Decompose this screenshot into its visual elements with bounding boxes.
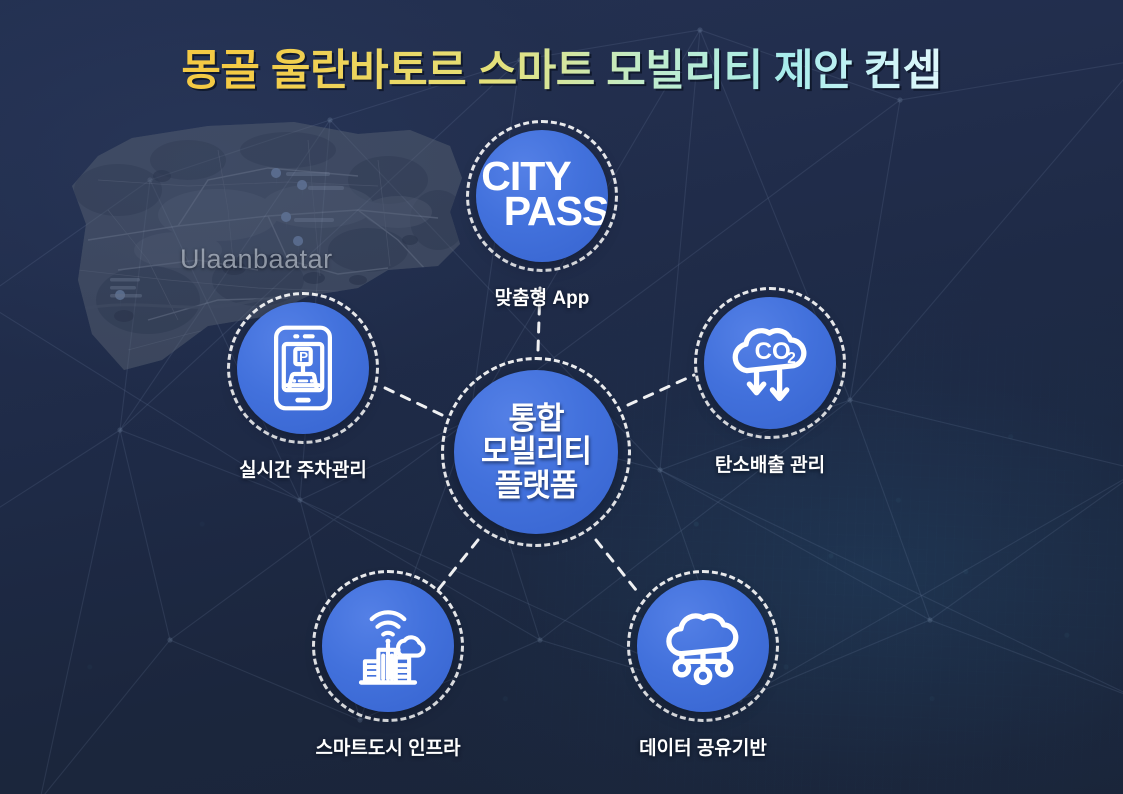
node-disc: CITY PASS — [476, 130, 608, 262]
svg-text:CO: CO — [755, 338, 791, 365]
cloud-network-share-icon — [655, 598, 751, 694]
node-realtime-parking-management[interactable]: P 실시간 주차관리 — [227, 292, 379, 444]
hub-disc: 통합 모빌리티 플랫폼 — [454, 370, 618, 534]
hub-label: 통합 모빌리티 플랫폼 — [481, 402, 591, 502]
connector-hub-parking — [383, 387, 442, 415]
city-pass-line2: PASS — [504, 192, 608, 231]
co2-cloud-down-arrows-icon: CO 2 — [722, 315, 818, 411]
hub-node-integrated-mobility-platform[interactable]: 통합 모빌리티 플랫폼 — [441, 357, 631, 547]
node-disc: P — [237, 302, 369, 434]
svg-text:P: P — [299, 349, 308, 364]
node-caption: 실시간 주차관리 — [239, 455, 367, 482]
hub-label-line1: 통합 — [481, 402, 591, 435]
city-pass-logo-icon: CITY PASS — [490, 157, 595, 234]
node-carbon-emission-management[interactable]: CO 2 탄소배출 관리 — [694, 287, 846, 439]
node-caption: 맞춤형 App — [495, 283, 590, 310]
connector-hub-co2 — [628, 375, 694, 405]
map-city-label: Ulaanbaatar — [180, 244, 333, 275]
node-caption: 데이터 공유기반 — [639, 733, 767, 760]
node-smart-city-infrastructure[interactable]: 스마트도시 인프라 — [312, 570, 464, 722]
page-title: 몽골 울란바토르 스마트 모빌리티 제안 컨셉 — [0, 36, 1123, 98]
hub-label-line2: 모빌리티 — [481, 435, 591, 468]
node-data-sharing-platform[interactable]: 데이터 공유기반 — [627, 570, 779, 722]
smartphone-parking-car-icon: P — [255, 320, 351, 416]
node-caption: 스마트도시 인프라 — [315, 733, 460, 760]
smart-city-buildings-wifi-icon — [340, 598, 436, 694]
node-disc — [637, 580, 769, 712]
svg-text:2: 2 — [787, 350, 796, 367]
infographic-slide: Ulaanbaatar 몽골 울란바토르 스마트 모빌리티 제안 컨셉 통합 모… — [0, 0, 1123, 794]
hub-label-line3: 플랫폼 — [481, 469, 591, 502]
node-disc: CO 2 — [704, 297, 836, 429]
node-caption: 탄소배출 관리 — [715, 450, 825, 477]
node-disc — [322, 580, 454, 712]
node-custom-app[interactable]: CITY PASS 맞춤형 App — [466, 120, 618, 272]
